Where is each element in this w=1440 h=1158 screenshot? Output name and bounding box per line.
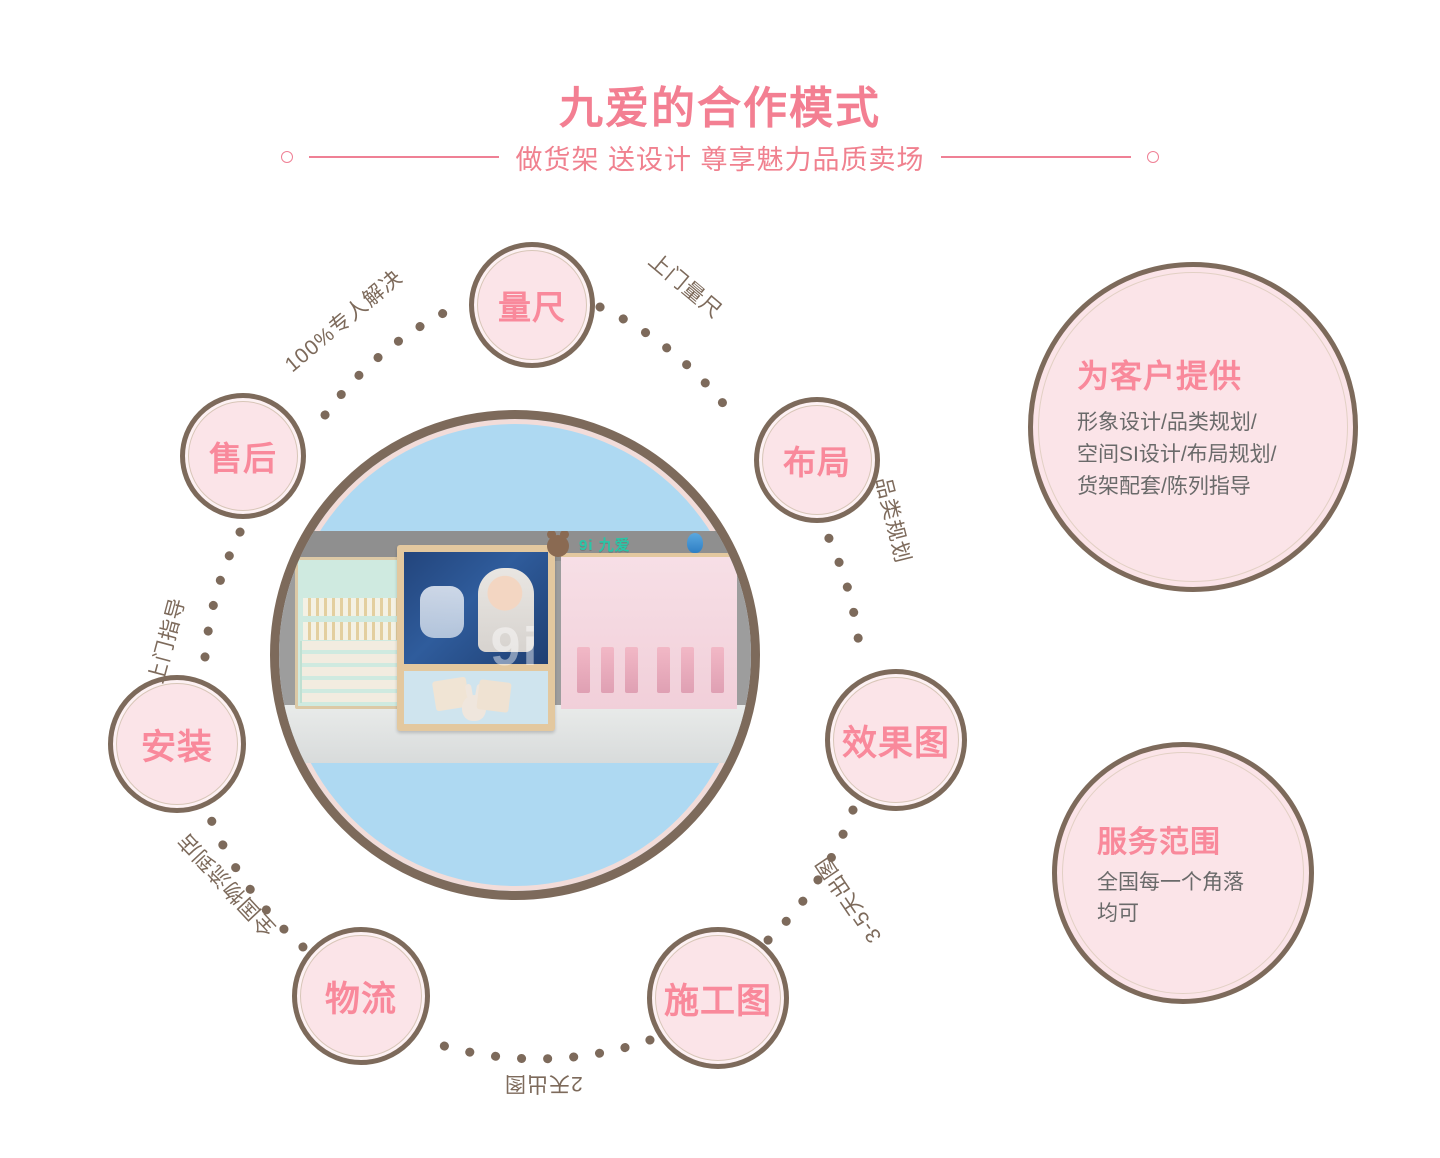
- store-center-poster: [397, 545, 555, 731]
- page-subtitle: 做货架 送设计 尊享魅力品质卖场: [515, 138, 924, 177]
- poster-mother-baby-image: [404, 552, 548, 664]
- info-bubble-scope: 服务范围 全国每一个角落 均可: [1052, 742, 1314, 1004]
- node-label: 安装: [141, 719, 213, 770]
- store-render-photo: 9i 九爱 9i: [279, 531, 751, 763]
- info-line: 货架配套/陈列指导: [1077, 471, 1309, 503]
- connector-label-layout-to-rendering: 品类规划: [869, 474, 919, 567]
- store-product-shelves: [300, 641, 402, 703]
- info-body: 全国每一个角落 均可: [1097, 867, 1269, 930]
- bear-plush-icon: [547, 535, 569, 557]
- node-label: 施工图: [664, 973, 772, 1024]
- node-label: 售后: [209, 432, 277, 480]
- node-label: 物流: [325, 971, 397, 1022]
- decorative-circle-right: [1147, 151, 1159, 163]
- apparel-rack: [601, 647, 614, 693]
- connector-label-rendering-to-blueprint: 3-5天出图: [807, 850, 887, 949]
- poster-display-scene: [404, 671, 548, 724]
- center-photo-circle: 9i 九爱 9i: [270, 410, 760, 900]
- store-brand-sign: 9i 九爱: [579, 534, 699, 556]
- subtitle-row: 做货架 送设计 尊享魅力品质卖场: [0, 136, 1440, 178]
- info-title: 为客户提供: [1077, 351, 1309, 397]
- arc-measure-layout: [600, 307, 732, 415]
- info-line: 全国每一个角落: [1097, 867, 1269, 899]
- process-node-measure[interactable]: 量尺: [469, 242, 595, 368]
- connector-label-measure-to-layout: 上门量尺: [643, 245, 730, 325]
- process-node-aftersale[interactable]: 售后: [180, 393, 306, 519]
- page-title: 九爱的合作模式: [0, 72, 1440, 136]
- process-node-layout[interactable]: 布局: [754, 397, 880, 523]
- decorative-line-left: [309, 156, 499, 158]
- arc-install-aftersale: [205, 517, 248, 657]
- info-bubble-provide: 为客户提供 形象设计/品类规划/ 空间SI设计/布局规划/ 货架配套/陈列指导: [1028, 262, 1358, 592]
- page-header: 九爱的合作模式 做货架 送设计 尊享魅力品质卖场: [0, 0, 1440, 200]
- node-label: 量尺: [498, 281, 566, 329]
- apparel-rack: [625, 647, 638, 693]
- apparel-rack: [657, 647, 670, 693]
- bunny-plush-icon: [462, 695, 486, 721]
- decorative-line-right: [941, 156, 1131, 158]
- arc-layout-rendering: [817, 515, 860, 655]
- apparel-rack: [681, 647, 694, 693]
- infographic-page: 九爱的合作模式 做货架 送设计 尊享魅力品质卖场: [0, 0, 1440, 1158]
- info-line: 均可: [1097, 898, 1269, 930]
- process-node-blueprint[interactable]: 施工图: [647, 927, 789, 1069]
- process-node-rendering[interactable]: 效果图: [825, 669, 967, 811]
- connector-label-install-to-aftersale: 上门指导: [140, 594, 192, 687]
- connector-label-logistics-to-install: 全国物流到店: [170, 827, 282, 944]
- apparel-rack: [577, 647, 590, 693]
- store-right-bay: [561, 553, 737, 709]
- arc-blueprint-logistics: [425, 1040, 650, 1059]
- info-line: 形象设计/品类规划/: [1077, 407, 1309, 439]
- apparel-rack: [711, 647, 724, 693]
- info-title: 服务范围: [1097, 817, 1269, 861]
- node-label: 布局: [783, 436, 851, 484]
- info-line: 空间SI设计/布局规划/: [1077, 439, 1309, 471]
- connector-label-blueprint-to-logistics: 2天出图: [504, 1070, 583, 1100]
- connector-label-aftersale-to-measure: 100%专人解决: [277, 262, 408, 379]
- info-body: 形象设计/品类规划/ 空间SI设计/布局规划/ 货架配套/陈列指导: [1077, 407, 1309, 503]
- process-circle-diagram: 9i 九爱 9i 量尺 布局 效果图 施工图 物流 安装 售后 上门量尺: [60, 225, 1000, 1125]
- node-label: 效果图: [842, 715, 950, 766]
- process-node-install[interactable]: 安装: [108, 675, 246, 813]
- balloon-icon: [687, 533, 703, 553]
- process-node-logistics[interactable]: 物流: [292, 927, 430, 1065]
- decorative-circle-left: [281, 151, 293, 163]
